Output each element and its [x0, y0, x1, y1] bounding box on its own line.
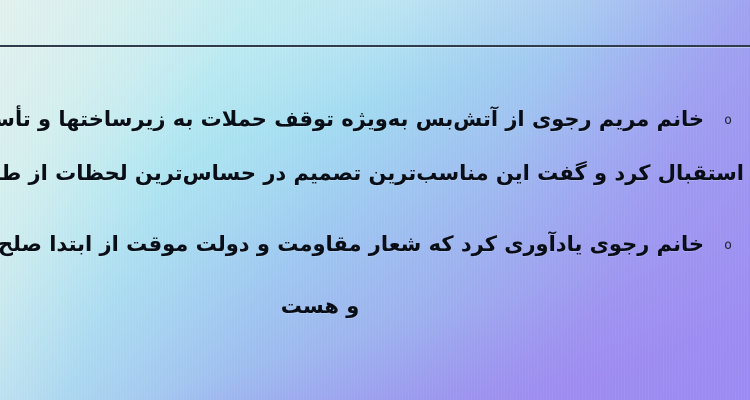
bullet-2-line-1: خانم رجوی یادآوری کرد که شعار مقاومت و د…: [6, 227, 704, 261]
bullet-circle-icon: o: [714, 114, 742, 127]
bullet-1-line-2: استقبال کرد و گفت این مناسب‌ترین تصمیم د…: [2, 156, 744, 190]
bullet-2-line-2: و هست: [0, 289, 750, 323]
slide-canvas: o خانم مریم رجوی از آتش‌بس به‌ویژه توقف …: [0, 0, 750, 400]
slide-body: o خانم مریم رجوی از آتش‌بس به‌ویژه توقف …: [0, 52, 750, 400]
bullet-circle-icon: o: [714, 239, 742, 252]
bullet-1-line-1: خانم مریم رجوی از آتش‌بس به‌ویژه توقف حم…: [6, 102, 704, 136]
header-divider-line: [0, 45, 750, 47]
